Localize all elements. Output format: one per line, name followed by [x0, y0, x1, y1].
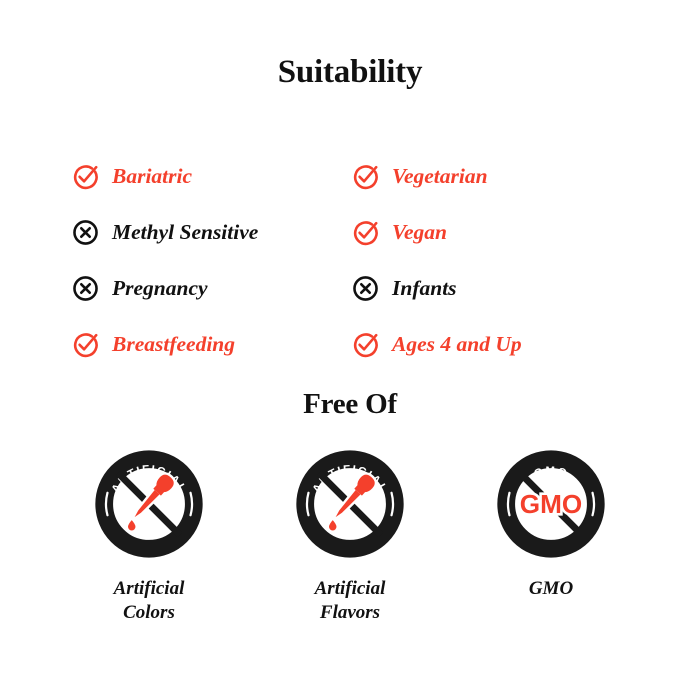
free-of-item-artificial-colors: ARTIFICIAL COLORS — [72, 448, 227, 625]
suitability-item-breastfeeding: Breastfeeding — [70, 316, 350, 372]
svg-text:GMO: GMO — [533, 465, 570, 480]
no-artificial-colors-badge-icon: ARTIFICIAL COLORS — [93, 448, 205, 560]
check-circle-icon — [352, 331, 379, 358]
suitability-section-title: Suitability — [0, 52, 700, 92]
free-of-badge-row: ARTIFICIAL COLORS — [0, 448, 700, 625]
suitability-item-label: Pregnancy — [112, 276, 208, 300]
free-of-section-title: Free Of — [0, 386, 700, 422]
no-gmo-badge-icon: GMO GMO GMO GMO — [495, 448, 607, 560]
free-of-item-artificial-flavors: ARTIFICIAL FLAVORS Artificial Flavors — [273, 448, 428, 625]
suitability-free-of-panel: Suitability Bariatric Vegetarian Met — [0, 0, 700, 700]
suitability-item-label: Infants — [392, 276, 457, 300]
svg-text:GMO: GMO — [535, 524, 568, 539]
check-circle-icon — [72, 163, 99, 190]
suitability-item-vegan: Vegan — [350, 204, 630, 260]
x-circle-icon — [72, 275, 99, 302]
free-of-caption: GMO — [529, 577, 573, 601]
check-circle-icon — [352, 163, 379, 190]
suitability-item-bariatric: Bariatric — [70, 148, 350, 204]
suitability-item-label: Vegetarian — [392, 164, 488, 188]
x-circle-icon — [352, 275, 379, 302]
suitability-item-label: Vegan — [392, 220, 447, 244]
check-circle-icon — [72, 331, 99, 358]
suitability-item-methyl-sensitive: Methyl Sensitive — [70, 204, 350, 260]
badge-center-text: GMO — [520, 489, 582, 519]
suitability-item-label: Breastfeeding — [112, 332, 235, 356]
suitability-item-label: Ages 4 and Up — [392, 332, 522, 356]
suitability-item-infants: Infants — [350, 260, 630, 316]
free-of-caption: Artificial Flavors — [315, 577, 386, 625]
suitability-list: Bariatric Vegetarian Methyl Sensitive — [0, 148, 700, 372]
badge-ring-text-bottom: GMO — [535, 524, 568, 539]
check-circle-icon — [352, 219, 379, 246]
badge-ring-text-top: GMO — [533, 465, 570, 480]
suitability-item-label: Bariatric — [112, 164, 192, 188]
suitability-item-pregnancy: Pregnancy — [70, 260, 350, 316]
suitability-item-label: Methyl Sensitive — [112, 220, 258, 244]
suitability-item-vegetarian: Vegetarian — [350, 148, 630, 204]
suitability-item-ages-4-and-up: Ages 4 and Up — [350, 316, 630, 372]
free-of-item-gmo: GMO GMO GMO GMO GMO — [474, 448, 629, 601]
free-of-caption: Artificial Colors — [114, 577, 185, 625]
x-circle-icon — [72, 219, 99, 246]
no-artificial-flavors-badge-icon: ARTIFICIAL FLAVORS — [294, 448, 406, 560]
